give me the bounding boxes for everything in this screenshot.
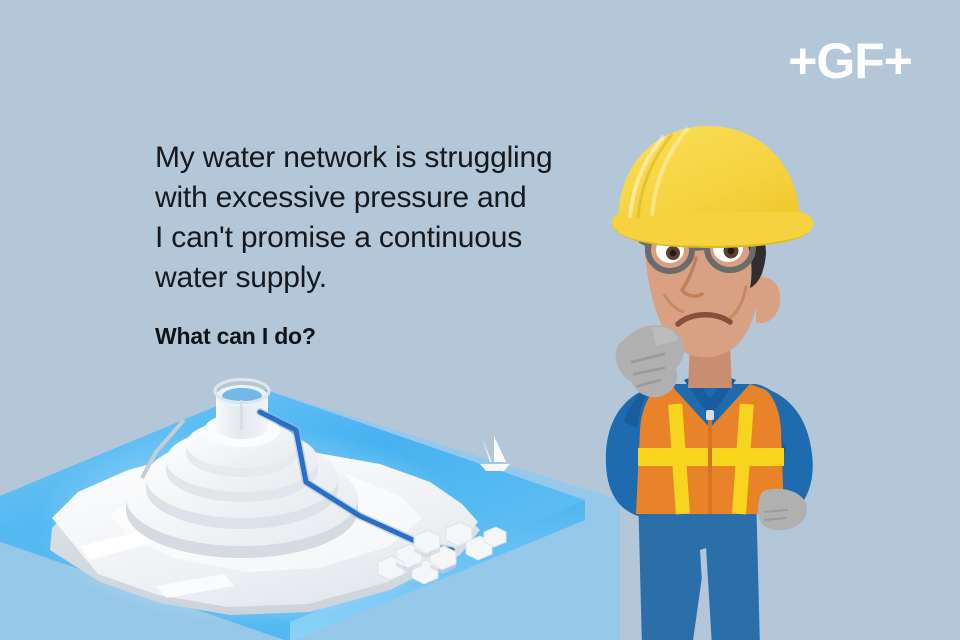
sailboat <box>480 436 510 471</box>
left-glove-at-chin <box>616 325 685 397</box>
headline-line-1: My water network is struggling <box>155 138 605 178</box>
island-water-network-illustration <box>0 350 620 640</box>
worker-character-illustration <box>560 118 860 640</box>
headline-line-4: water supply. <box>155 258 605 298</box>
message-block: My water network is struggling with exce… <box>155 138 605 350</box>
question-text: What can I do? <box>155 323 605 350</box>
headline-line-3: I can't promise a continuous <box>155 218 605 258</box>
gf-logo: +GF+ <box>788 36 912 86</box>
hard-hat <box>612 126 813 248</box>
headline-line-2: with excessive pressure and <box>155 178 605 218</box>
illustration-canvas: My water network is struggling with exce… <box>0 0 960 640</box>
headline-text: My water network is struggling with exce… <box>155 138 605 298</box>
